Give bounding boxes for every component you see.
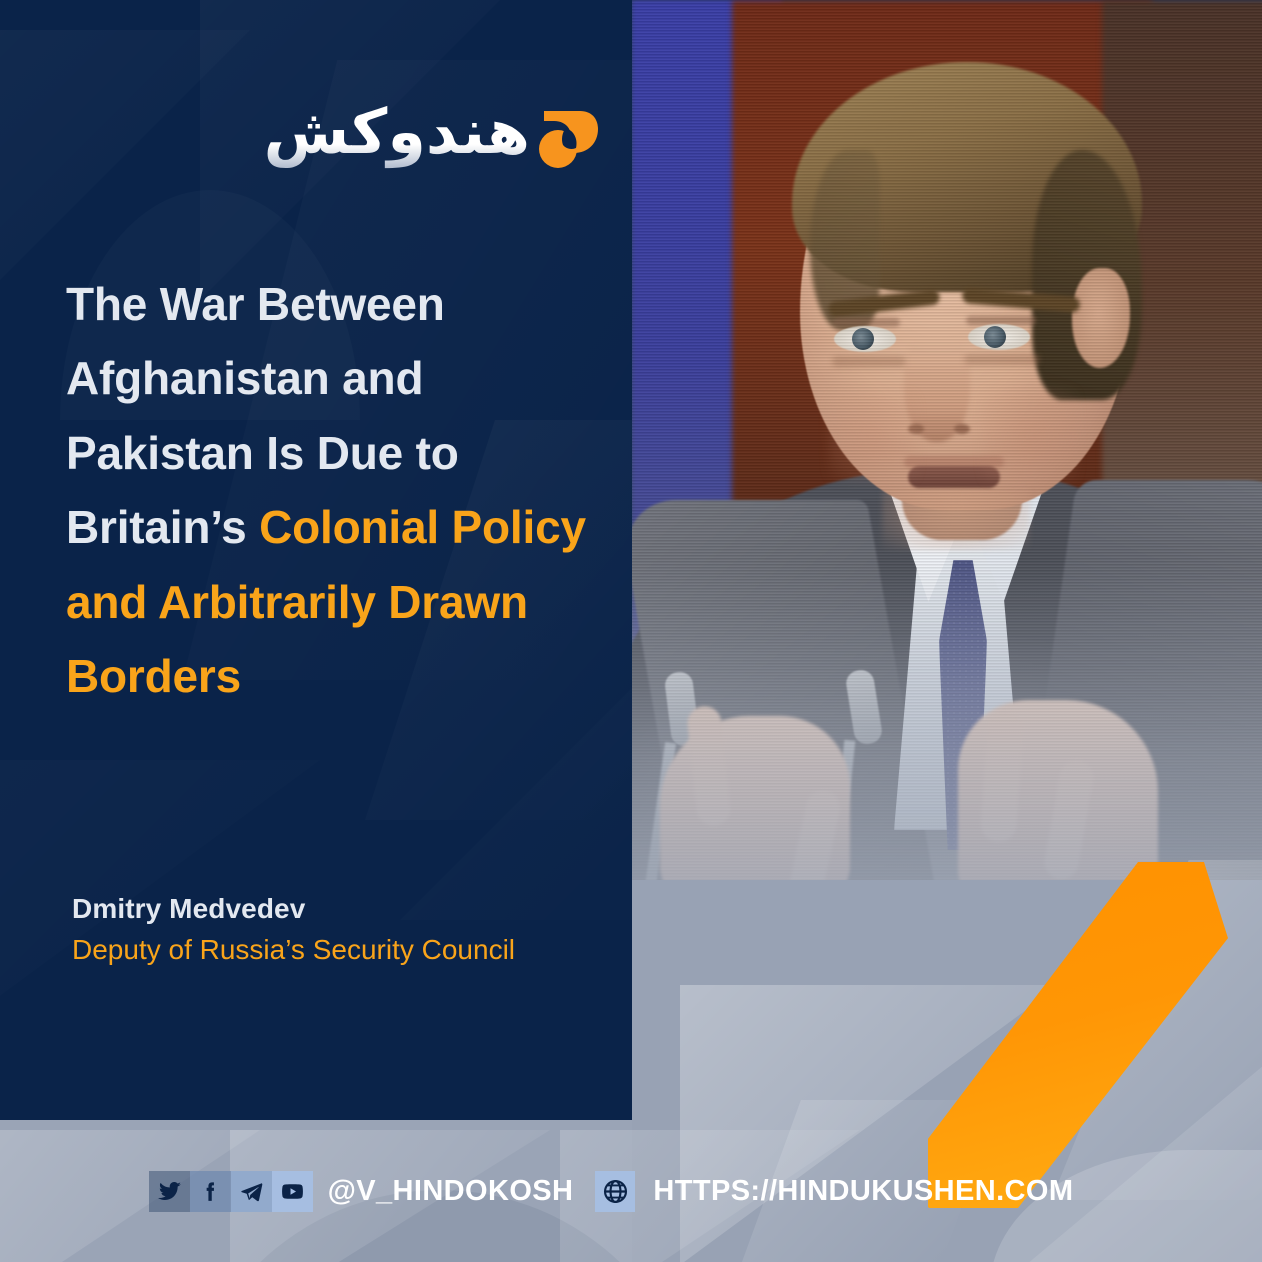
telegram-icon [239, 1179, 264, 1204]
social-media-poster: هندوکش The War Between Afghanistan and P… [0, 0, 1262, 1262]
footer-content: @V_HINDOKOSH HTTPS://HINDUKUSHEN.COM [149, 1171, 1074, 1212]
footer-bar: @V_HINDOKOSH HTTPS://HINDUKUSHEN.COM [0, 1120, 1262, 1262]
attribution-role: Deputy of Russia’s Security Council [72, 932, 572, 969]
brand-logo-wordmark: هندوکش [264, 101, 530, 171]
facebook-link[interactable] [190, 1171, 231, 1212]
website-url: HTTPS://HINDUKUSHEN.COM [653, 1175, 1073, 1208]
twitter-link[interactable] [149, 1171, 190, 1212]
telegram-link[interactable] [231, 1171, 272, 1212]
youtube-link[interactable] [272, 1171, 313, 1212]
page-title: The War Between Afghanistan and Pakistan… [66, 267, 586, 714]
brand-logo[interactable]: هندوکش [338, 88, 600, 184]
speaker-photo [632, 0, 1262, 1262]
youtube-icon [280, 1179, 305, 1204]
facebook-icon [198, 1179, 223, 1204]
attribution: Dmitry Medvedev Deputy of Russia’s Secur… [72, 890, 572, 969]
globe-icon [602, 1178, 629, 1205]
attribution-name: Dmitry Medvedev [72, 890, 572, 928]
hindukush-swoosh-icon [536, 101, 600, 171]
social-handle: @V_HINDOKOSH [328, 1175, 574, 1208]
twitter-icon [157, 1179, 182, 1204]
globe-link[interactable] [595, 1171, 635, 1212]
